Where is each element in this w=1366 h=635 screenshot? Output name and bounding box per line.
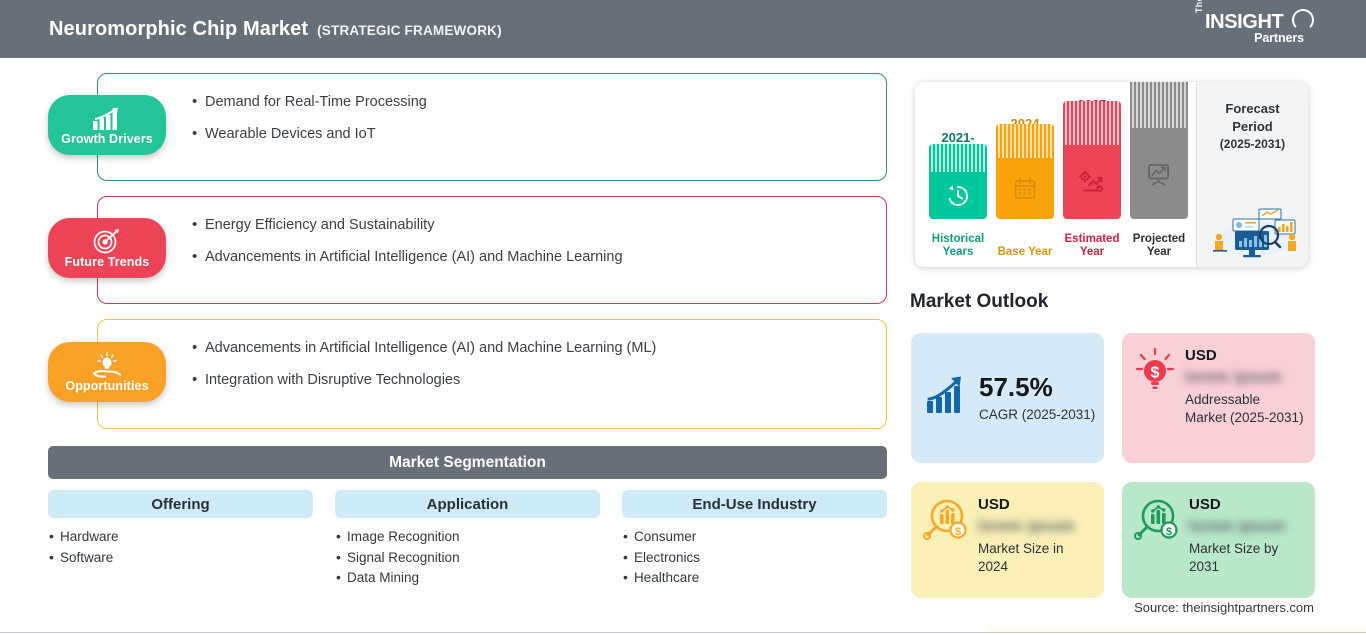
projection-screen-icon	[1130, 128, 1188, 219]
timeline-bar-1-stripes	[996, 124, 1054, 158]
svg-text:$: $	[1166, 526, 1172, 538]
insight-partners-logo[interactable]: The INSIGHT Partners	[1194, 9, 1312, 51]
segmentation-header-offering: Offering	[48, 490, 313, 518]
strategy-row-opportunities: Opportunities Advancements in Artificial…	[97, 319, 887, 429]
timeline-bar-1	[996, 124, 1054, 219]
list-item: Energy Efficiency and Sustainability	[192, 216, 623, 236]
clock-history-icon	[929, 172, 987, 219]
opportunities-label: Opportunities	[65, 379, 148, 393]
timeline-caption-1: Base Year	[996, 246, 1054, 260]
source-note: Source: theinsightpartners.com	[1134, 600, 1314, 615]
page-title: Neuromorphic Chip Market	[49, 18, 308, 41]
segmentation-column-application: Application Image Recognition Signal Rec…	[335, 490, 600, 589]
bar-chart-arrow-icon	[92, 105, 122, 131]
strategy-row-future-trends: Future Trends Energy Efficiency and Sust…	[97, 196, 887, 304]
addressable-market-value-redacted: lorem ipsum	[1185, 369, 1305, 387]
segmentation-header-application: Application	[335, 490, 600, 518]
forecast-line-2: Period	[1197, 118, 1308, 136]
cagr-value: 57.5%	[979, 374, 1095, 400]
logo-the-text: The	[1194, 0, 1204, 13]
segmentation-list-offering: Hardware Software	[48, 527, 313, 568]
market-size-2024-currency: USD	[978, 496, 1094, 513]
list-item: Consumer	[622, 527, 887, 548]
timeline-bar-2-stripes	[1063, 101, 1121, 145]
lightbulb-hand-icon	[91, 352, 123, 378]
opportunities-badge[interactable]: Opportunities	[48, 342, 166, 402]
header-title-group: Neuromorphic Chip Market (STRATEGIC FRAM…	[49, 18, 502, 41]
list-item: Demand for Real-Time Processing	[192, 93, 427, 113]
forecast-period-text: Forecast Period (2025-2031)	[1197, 82, 1308, 152]
future-trends-bullet-list: Energy Efficiency and Sustainability Adv…	[192, 216, 623, 279]
market-size-2031-currency: USD	[1189, 496, 1305, 513]
timeline-bar-0-stripes	[929, 144, 987, 172]
magnifier-chart-dollar-icon: $	[923, 496, 969, 588]
market-size-2024-value-redacted: lorem ipsum	[978, 518, 1094, 536]
market-segmentation-title: Market Segmentation	[389, 454, 546, 472]
list-item: Hardware	[48, 527, 313, 548]
timeline-bar-2	[1063, 101, 1121, 219]
forecast-line-1: Forecast	[1197, 100, 1308, 118]
list-item: Advancements in Artificial Intelligence …	[192, 248, 623, 268]
svg-text:$: $	[1151, 365, 1160, 382]
market-size-2031-value-redacted: lorem ipsum	[1189, 518, 1305, 536]
addressable-market-currency: USD	[1185, 347, 1305, 364]
segmentation-list-application: Image Recognition Signal Recognition Dat…	[335, 527, 600, 589]
list-item: Integration with Disruptive Technologies	[192, 371, 656, 391]
segmentation-column-offering: Offering Hardware Software	[48, 490, 313, 568]
segmentation-column-end-use-industry: End-Use Industry Consumer Electronics He…	[622, 490, 887, 589]
magnifier-chart-dollar-icon: $	[1134, 496, 1180, 588]
segmentation-header-end-use-industry: End-Use Industry	[622, 490, 887, 518]
list-item: Software	[48, 548, 313, 569]
list-item: Electronics	[622, 548, 887, 569]
timeline-bar-group: 2021-2023 Historical Years 2024	[929, 82, 1179, 267]
timeline-bar-0	[929, 144, 987, 219]
list-item: Image Recognition	[335, 527, 600, 548]
outlook-card-market-size-2024: $ USD lorem ipsum Market Size in 2024	[911, 482, 1104, 598]
outlook-card-cagr: 57.5% CAGR (2025-2031)	[911, 333, 1104, 463]
timeline-bar-3-stripes	[1130, 82, 1188, 128]
growth-drivers-label: Growth Drivers	[61, 132, 153, 146]
opportunities-bullet-list: Advancements in Artificial Intelligence …	[192, 339, 656, 402]
list-item: Healthcare	[622, 568, 887, 589]
analytics-dashboard-illustration	[1203, 201, 1303, 261]
lightbulb-dollar-icon: $	[1134, 347, 1176, 453]
future-trends-badge[interactable]: Future Trends	[48, 218, 166, 278]
growth-drivers-bullet-list: Demand for Real-Time Processing Wearable…	[192, 93, 427, 156]
growth-drivers-badge[interactable]: Growth Drivers	[48, 95, 166, 155]
strategy-row-growth-drivers: Growth Drivers Demand for Real-Time Proc…	[97, 73, 887, 181]
infographic-page: Neuromorphic Chip Market (STRATEGIC FRAM…	[0, 0, 1366, 635]
calendar-icon	[996, 158, 1054, 219]
gear-analytics-icon	[1063, 145, 1121, 219]
study-timeline-chart: 2021-2023 Historical Years 2024	[915, 82, 1308, 267]
forecast-period-panel: Forecast Period (2025-2031)	[1196, 82, 1308, 267]
segmentation-list-end-use-industry: Consumer Electronics Healthcare	[622, 527, 887, 589]
list-item: Data Mining	[335, 568, 600, 589]
target-dart-icon	[93, 228, 121, 254]
timeline-caption-3: Projected Year	[1130, 233, 1188, 260]
page-subtitle: (STRATEGIC FRAMEWORK)	[317, 23, 502, 38]
logo-partners-text: Partners	[1254, 31, 1304, 45]
outlook-card-addressable-market: $ USD lorem ipsum Addressable Market (20…	[1122, 333, 1315, 463]
logo-arc-icon	[1292, 9, 1314, 31]
cagr-caption: CAGR (2025-2031)	[979, 407, 1095, 422]
timeline-caption-2: Estimated Year	[1063, 233, 1121, 260]
timeline-caption-0: Historical Years	[929, 233, 987, 260]
timeline-bar-3	[1130, 82, 1188, 219]
list-item: Advancements in Artificial Intelligence …	[192, 339, 656, 359]
market-size-2031-caption: Market Size by 2031	[1189, 540, 1305, 576]
growth-chart-icon	[925, 375, 969, 422]
forecast-years: (2025-2031)	[1197, 136, 1308, 153]
market-size-2024-caption: Market Size in 2024	[978, 540, 1094, 576]
market-segmentation-title-bar: Market Segmentation	[48, 446, 887, 479]
page-header: Neuromorphic Chip Market (STRATEGIC FRAM…	[0, 0, 1366, 58]
future-trends-label: Future Trends	[65, 255, 150, 269]
svg-text:$: $	[955, 526, 961, 538]
outlook-card-market-size-2031: $ USD lorem ipsum Market Size by 2031	[1122, 482, 1315, 598]
market-outlook-title: Market Outlook	[910, 291, 1048, 313]
addressable-market-caption: Addressable Market (2025-2031)	[1185, 391, 1305, 427]
list-item: Wearable Devices and IoT	[192, 125, 427, 145]
list-item: Signal Recognition	[335, 548, 600, 569]
